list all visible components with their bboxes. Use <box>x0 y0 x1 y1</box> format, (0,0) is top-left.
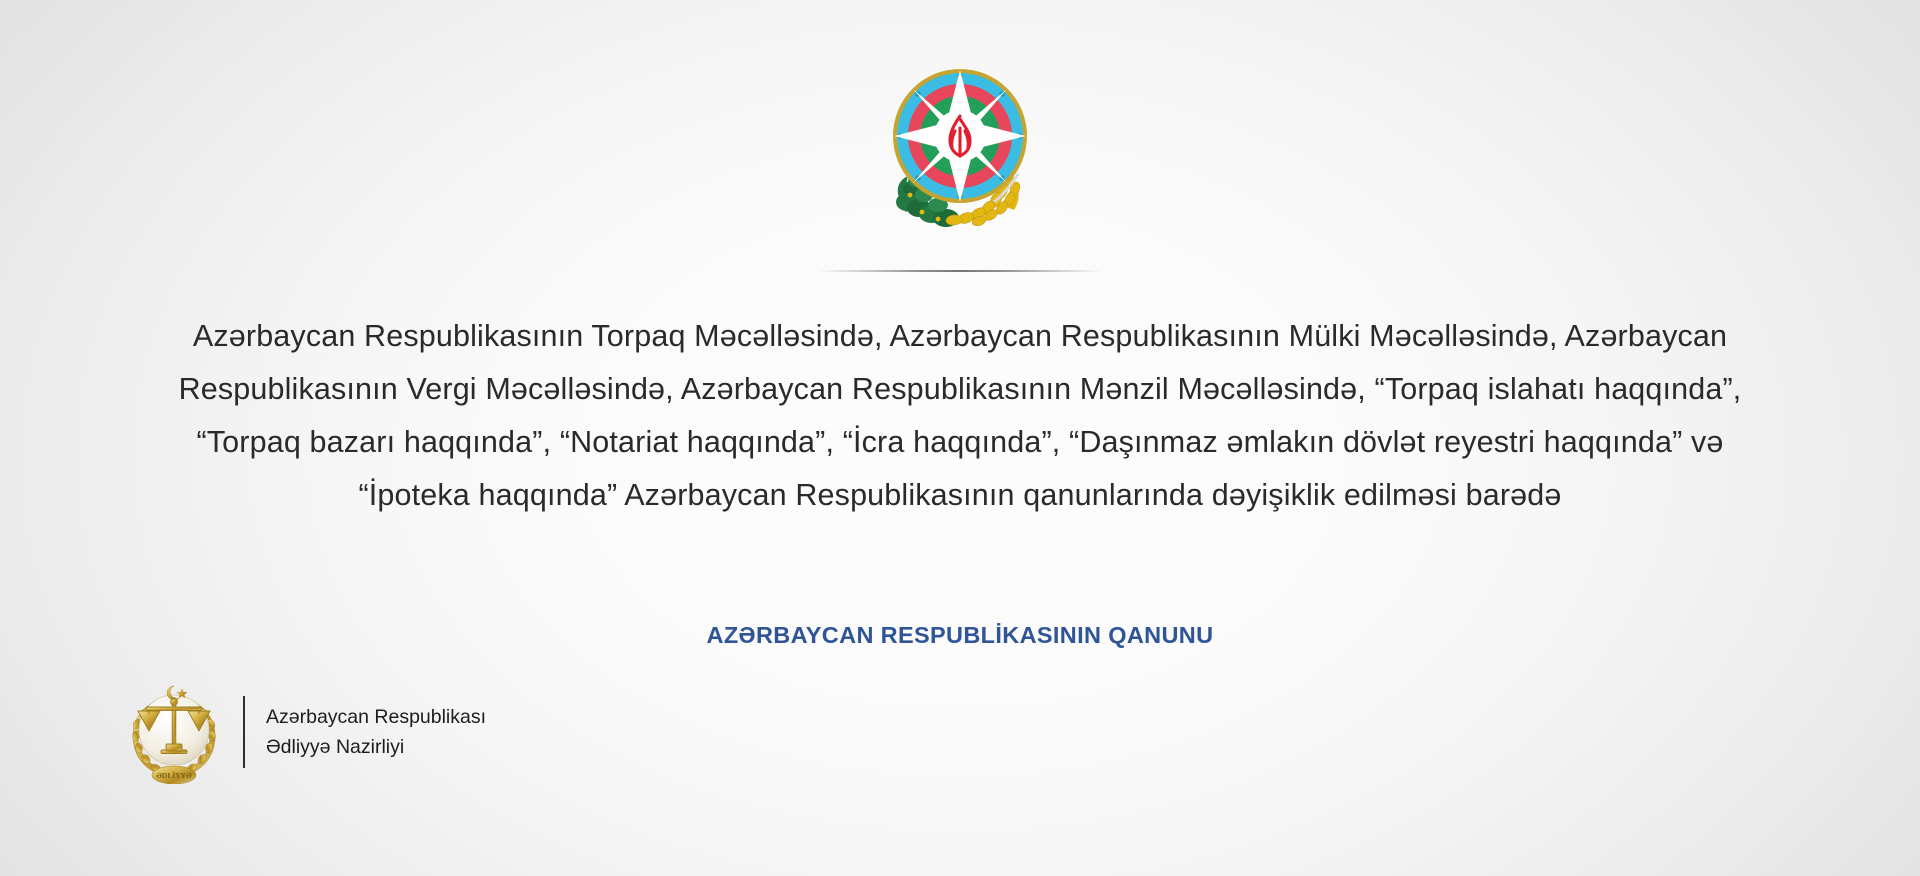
ministry-of-justice-seal-icon: ƏDLİYYƏ <box>122 680 226 784</box>
ministry-branding: ƏDLİYYƏ Azərbaycan Respublikası Ədliyyə … <box>122 680 486 784</box>
ministry-name-line2: Ədliyyə Nazirliyi <box>266 732 486 762</box>
seal-motto-text: ƏDLİYYƏ <box>156 770 192 780</box>
ministry-divider-rule <box>243 696 245 768</box>
header-divider <box>817 270 1103 272</box>
page-title: Azərbaycan Respublikasının Torpaq Məcəll… <box>140 310 1780 522</box>
document-page: Azərbaycan Respublikasının Torpaq Məcəll… <box>0 0 1920 876</box>
ministry-name: Azərbaycan Respublikası Ədliyyə Nazirliy… <box>266 702 486 762</box>
title-block: Azərbaycan Respublikasının Torpaq Məcəll… <box>140 310 1780 522</box>
law-type-heading: AZƏRBAYCAN RESPUBLİKASININ QANUNU <box>0 622 1920 649</box>
ministry-name-line1: Azərbaycan Respublikası <box>266 702 486 732</box>
state-emblem <box>886 62 1034 227</box>
